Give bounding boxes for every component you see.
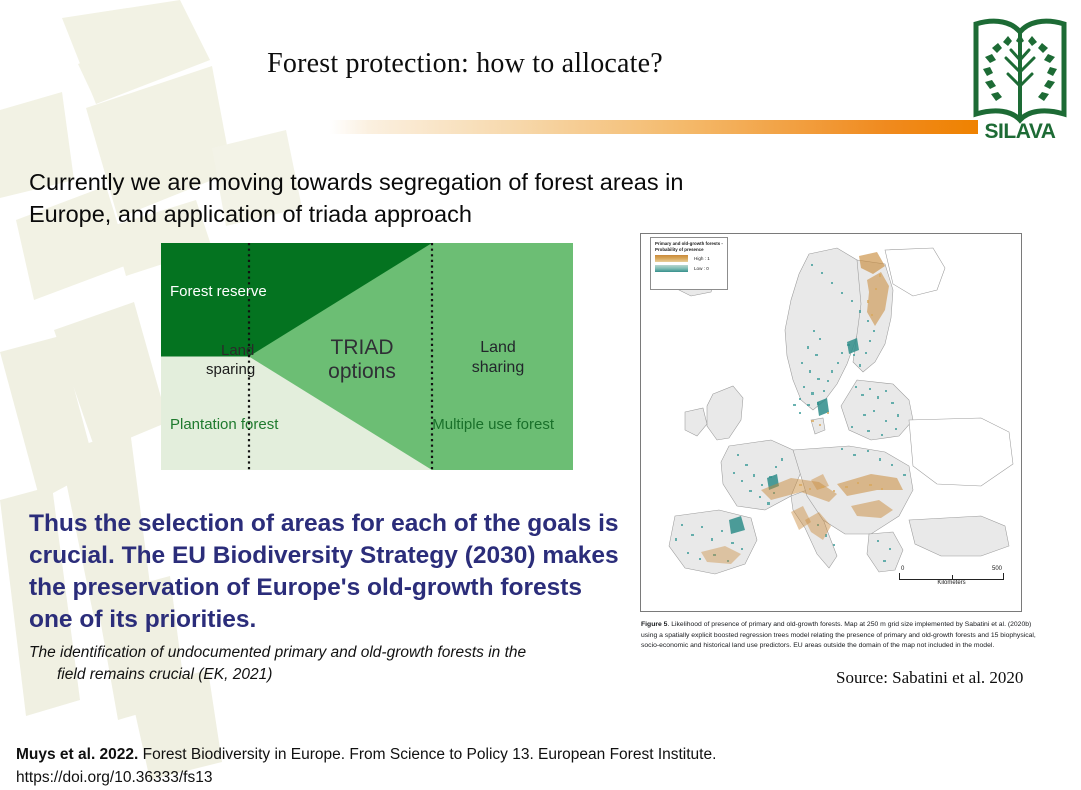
triad-label-sparing: sparing	[206, 361, 255, 379]
logo-wordmark: SILAVA	[985, 120, 1056, 142]
map-scale-bar: 0 500 Kilometers	[899, 566, 1004, 586]
intro-paragraph: Currently we are moving towards segregat…	[29, 166, 729, 231]
triad-label-land: Land	[221, 342, 254, 360]
scale-max: 500	[992, 566, 1002, 572]
triad-label-plantation-forest: Plantation forest	[170, 416, 278, 434]
footer-citation-authors: Muys et al. 2022.	[16, 746, 138, 763]
legend-row-low: Low : 0	[655, 265, 723, 272]
figure-caption: Figure 5. Likelihood of presence of prim…	[641, 620, 1039, 652]
figure-caption-label: Figure 5	[641, 621, 667, 628]
triad-label-forest-reserve: Forest reserve	[170, 283, 267, 301]
map-frame: Primary and old-growth forests - Probabi…	[640, 233, 1022, 612]
land-sharing-line1: Land	[480, 339, 516, 356]
land-sharing-line2: sharing	[472, 359, 524, 376]
scale-min: 0	[901, 566, 904, 572]
legend-label-low: Low : 0	[694, 266, 709, 271]
triad-label-land-sharing: Land sharing	[448, 338, 548, 378]
statement-subnote: The identification of undocumented prima…	[29, 642, 599, 686]
triad-label-multiple-use-forest: Multiple use forest	[423, 416, 554, 434]
triad-options-line2: options	[328, 360, 396, 383]
scale-unit: Kilometers	[899, 580, 1004, 586]
legend-title: Primary and old-growth forests - Probabi…	[655, 241, 723, 253]
triad-label-triad-options: TRIAD options	[307, 336, 417, 385]
legend-swatch-low-icon	[655, 265, 688, 272]
legend-label-high: High : 1	[694, 256, 710, 261]
subnote-line-2: field remains crucial (EK, 2021)	[29, 664, 599, 686]
subnote-line-1: The identification of undocumented prima…	[29, 644, 526, 661]
footer-citation: Muys et al. 2022. Forest Biodiversity in…	[16, 744, 916, 789]
scale-rule-icon	[899, 573, 1004, 580]
key-statement: Thus the selection of areas for each of …	[29, 508, 629, 635]
footer-citation-rest: Forest Biodiversity in Europe. From Scie…	[138, 746, 716, 763]
orange-divider-bar	[330, 120, 978, 134]
triad-options-line1: TRIAD	[331, 336, 394, 359]
figure-caption-text: . Likelihood of presence of primary and …	[641, 621, 1036, 649]
legend-row-high: High : 1	[655, 255, 723, 262]
map-legend: Primary and old-growth forests - Probabi…	[650, 237, 728, 290]
silava-logo: SILAVA	[970, 14, 1070, 142]
slide-root: Forest protection: how to allocate?	[0, 0, 1081, 790]
figure-source: Source: Sabatini et al. 2020	[836, 668, 1023, 688]
slide-title: Forest protection: how to allocate?	[0, 48, 930, 80]
triad-diagram: Forest reserve Land sparing TRIAD option…	[161, 243, 573, 470]
legend-swatch-high-icon	[655, 255, 688, 262]
scale-numbers: 0 500	[899, 566, 1004, 572]
map-figure: Primary and old-growth forests - Probabi…	[640, 233, 1022, 612]
footer-citation-doi: https://doi.org/10.36333/fs13	[16, 769, 212, 786]
